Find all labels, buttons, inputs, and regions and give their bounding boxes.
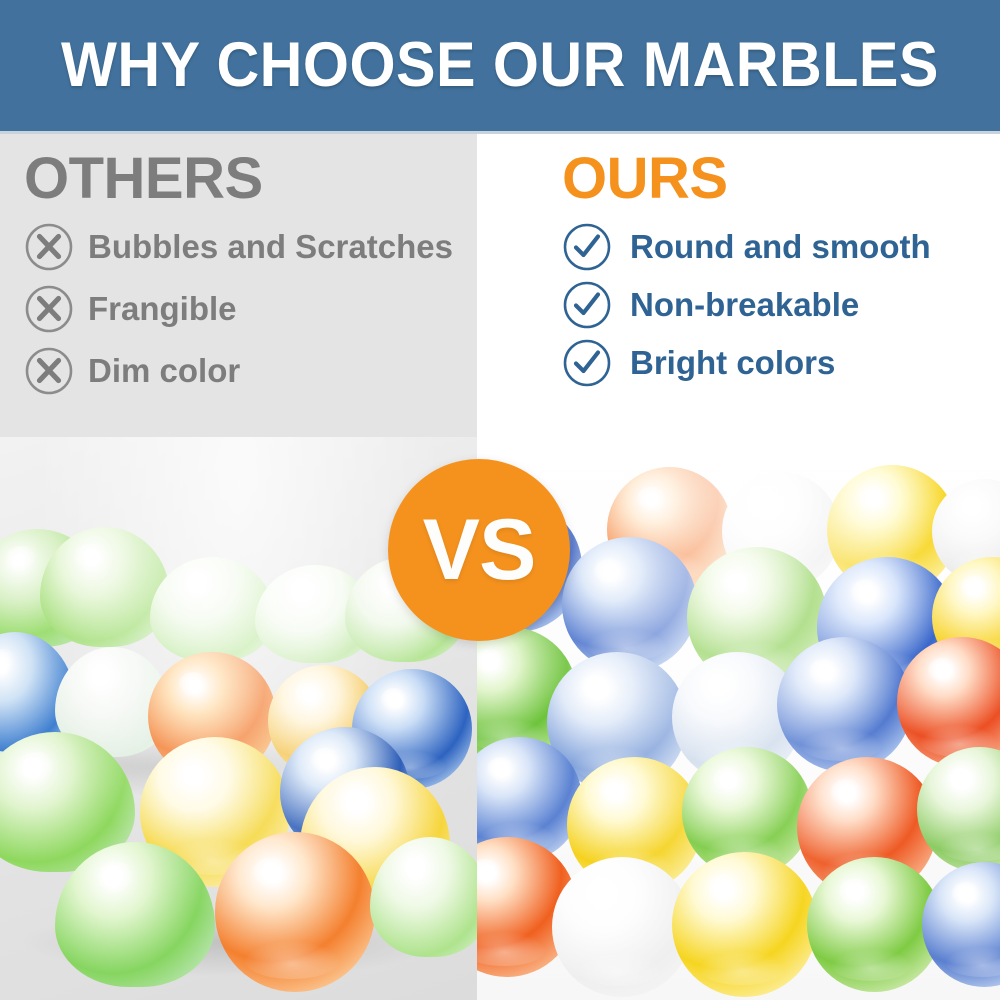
page-title: WHY CHOOSE OUR MARBLES — [61, 34, 939, 97]
list-item-label: Bubbles and Scratches — [88, 230, 453, 265]
x-circle-icon — [24, 346, 74, 396]
list-item-label: Round and smooth — [630, 230, 931, 265]
marketing-comparison-page: WHY CHOOSE OUR MARBLES OTHERS Bubbles an… — [0, 0, 1000, 1000]
ours-feature-list: Round and smooth Non-breakable Bright co… — [562, 222, 982, 388]
list-item: Dim color — [24, 346, 474, 396]
vs-label: VS — [423, 507, 536, 593]
ours-column: OURS Round and smooth Non-breakable — [562, 150, 982, 396]
check-circle-icon — [562, 280, 612, 330]
list-item-label: Frangible — [88, 292, 237, 327]
header-banner: WHY CHOOSE OUR MARBLES — [0, 0, 1000, 131]
x-circle-icon — [24, 284, 74, 334]
others-column: OTHERS Bubbles and Scratches Frangible — [24, 150, 474, 408]
list-item: Bright colors — [562, 338, 982, 388]
list-item: Round and smooth — [562, 222, 982, 272]
vs-badge: VS — [388, 459, 570, 641]
others-heading: OTHERS — [24, 150, 474, 208]
list-item-label: Bright colors — [630, 346, 835, 381]
check-circle-icon — [562, 338, 612, 388]
others-feature-list: Bubbles and Scratches Frangible Dim colo… — [24, 222, 474, 396]
list-item: Bubbles and Scratches — [24, 222, 474, 272]
list-item-label: Dim color — [88, 354, 240, 389]
x-circle-icon — [24, 222, 74, 272]
list-item: Non-breakable — [562, 280, 982, 330]
check-circle-icon — [562, 222, 612, 272]
list-item: Frangible — [24, 284, 474, 334]
list-item-label: Non-breakable — [630, 288, 859, 323]
ours-heading: OURS — [562, 150, 982, 208]
